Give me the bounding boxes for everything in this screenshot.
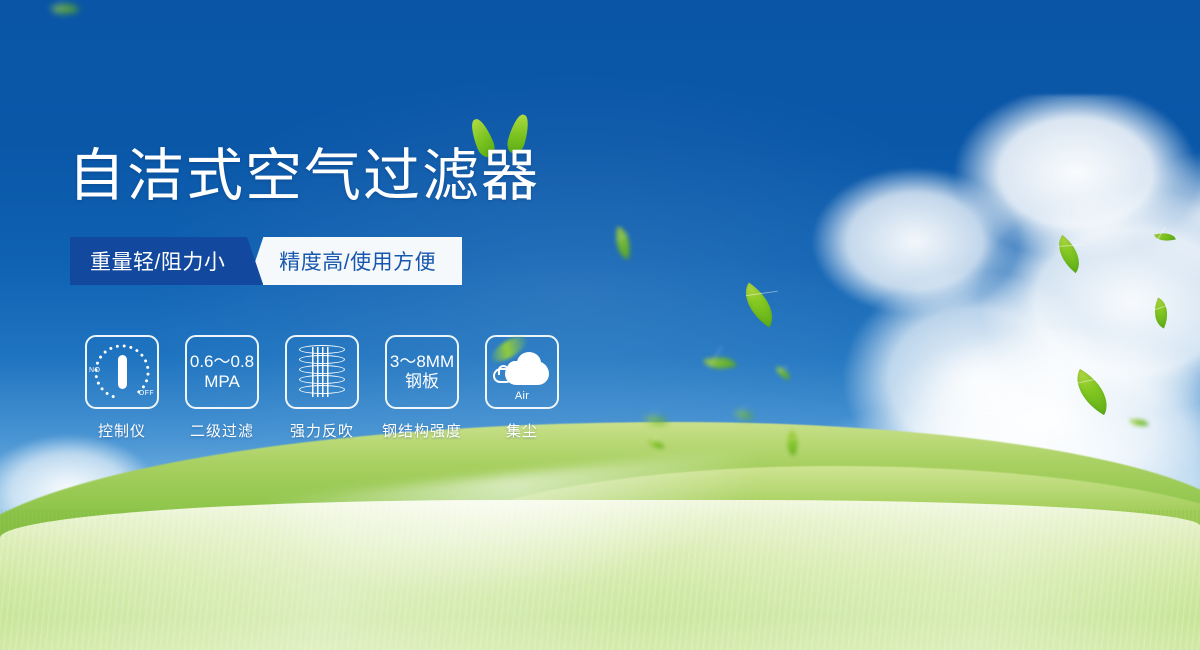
coil-ring (299, 355, 345, 364)
pressure-unit-line2: MPA (204, 372, 240, 392)
feature-label: 集尘 (506, 420, 538, 441)
dial-gauge-icon: NO OFF (90, 343, 154, 401)
cloud-outline-puff (498, 365, 509, 375)
dial-on-label: NO (89, 367, 100, 374)
dial-pointer (118, 355, 127, 389)
feature-icon-box (285, 335, 359, 409)
feature-item-two-stage-filtration[interactable]: 0.6～0.8 MPA 二级过滤 (172, 335, 272, 441)
feature-icon-box: 3～8MM 钢板 (385, 335, 459, 409)
product-banner: 自洁式空气过滤器 重量轻/阻力小 精度高/使用方便 (0, 0, 1200, 650)
feature-label: 二级过滤 (190, 420, 254, 441)
feature-item-strong-back-blow[interactable]: 强力反吹 (272, 335, 372, 441)
air-cloud-icon: Air (493, 351, 551, 393)
coil-ring (299, 345, 345, 354)
coil-ring (299, 375, 345, 384)
air-label: Air (493, 390, 551, 402)
feature-icon-box: 0.6～0.8 MPA (185, 335, 259, 409)
feature-icon-box: NO OFF (85, 335, 159, 409)
feature-item-steel-structure-strength[interactable]: 3～8MM 钢板 钢结构强度 (372, 335, 472, 441)
feature-item-control-instrument[interactable]: NO OFF 控制仪 (72, 335, 172, 441)
steel-plate-line2: 钢板 (405, 372, 439, 392)
pressure-value-line1: 0.6～0.8 (190, 352, 254, 372)
subtitle-bar: 重量轻/阻力小 精度高/使用方便 (70, 237, 462, 285)
steel-thickness-line1: 3～8MM (390, 352, 454, 372)
feature-icon-box: Air (485, 335, 559, 409)
feature-label: 钢结构强度 (382, 420, 462, 441)
coil-ring (299, 365, 345, 374)
feature-label: 强力反吹 (290, 420, 354, 441)
feature-item-dust-collection[interactable]: Air 集尘 (472, 335, 572, 441)
banner-title: 自洁式空气过滤器 (68, 148, 540, 205)
dial-off-label: OFF (139, 390, 154, 397)
feature-list: NO OFF 控制仪 0.6～0.8 MPA 二级过滤 (72, 335, 572, 441)
feature-label: 控制仪 (98, 420, 146, 441)
coil-filter-icon (299, 344, 345, 400)
subtitle-right: 精度高/使用方便 (247, 237, 462, 285)
coil-ring (299, 385, 345, 394)
grass-field (0, 430, 1200, 650)
subtitle-left: 重量轻/阻力小 (70, 237, 247, 285)
